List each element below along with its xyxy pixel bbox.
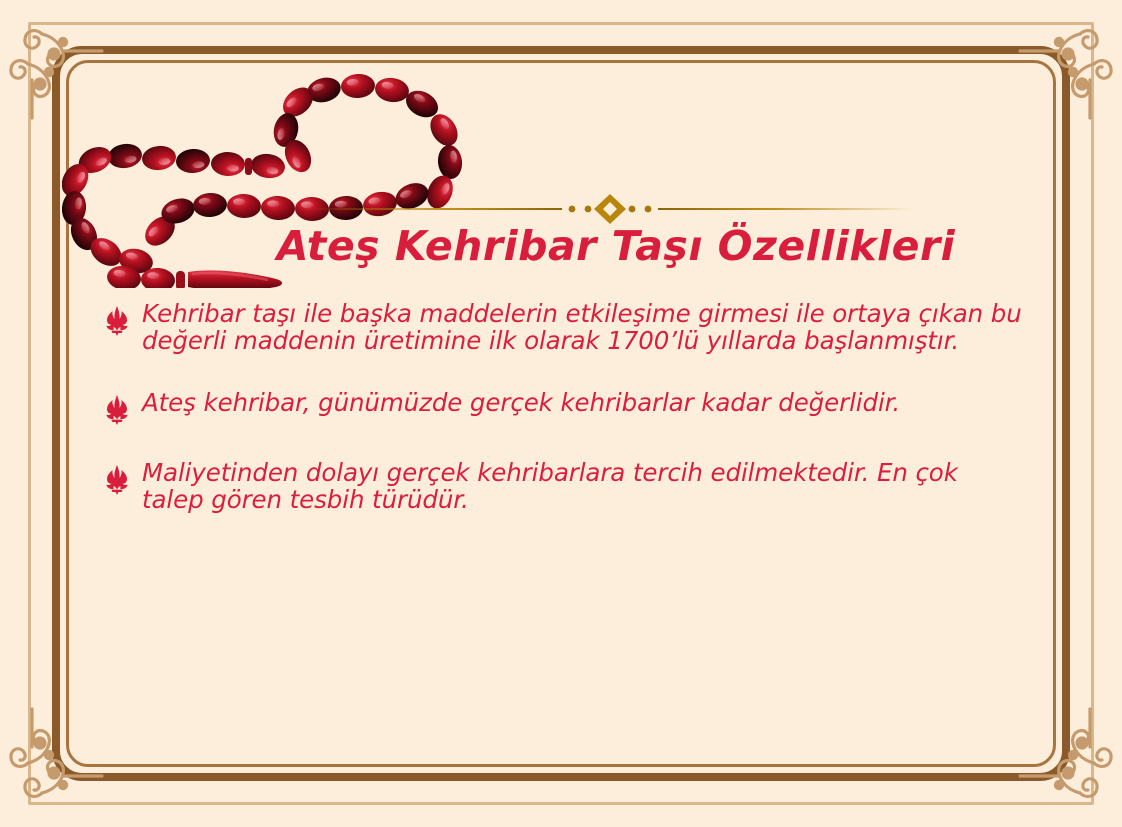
- list-item-text: Ateş kehribar, günümüzde gerçek kehribar…: [142, 389, 900, 416]
- list-item: Maliyetinden dolayı gerçek kehribarlara …: [104, 459, 1022, 514]
- corner-swirl-bottom-left-icon: [6, 693, 134, 821]
- list-item: Ateş kehribar, günümüzde gerçek kehribar…: [104, 389, 1022, 425]
- poster-canvas: Ateş Kehribar Taşı Özellikleri Kehribar …: [0, 0, 1122, 827]
- corner-swirl-bottom-right-icon: [988, 693, 1116, 821]
- page-title: Ateş Kehribar Taşı Özellikleri: [0, 222, 1122, 270]
- fleur-de-lis-icon: [104, 306, 130, 336]
- corner-swirl-top-left-icon: [6, 6, 134, 134]
- list-item-text: Maliyetinden dolayı gerçek kehribarlara …: [142, 459, 1022, 514]
- list-item: Kehribar taşı ile başka maddelerin etkil…: [104, 300, 1022, 355]
- fleur-de-lis-icon: [104, 465, 130, 495]
- corner-swirl-top-right-icon: [988, 6, 1116, 134]
- features-list: Kehribar taşı ile başka maddelerin etkil…: [104, 300, 1022, 548]
- gold-diamond-divider-ornament-icon: [300, 192, 920, 226]
- fleur-de-lis-icon: [104, 395, 130, 425]
- list-item-text: Kehribar taşı ile başka maddelerin etkil…: [142, 300, 1022, 355]
